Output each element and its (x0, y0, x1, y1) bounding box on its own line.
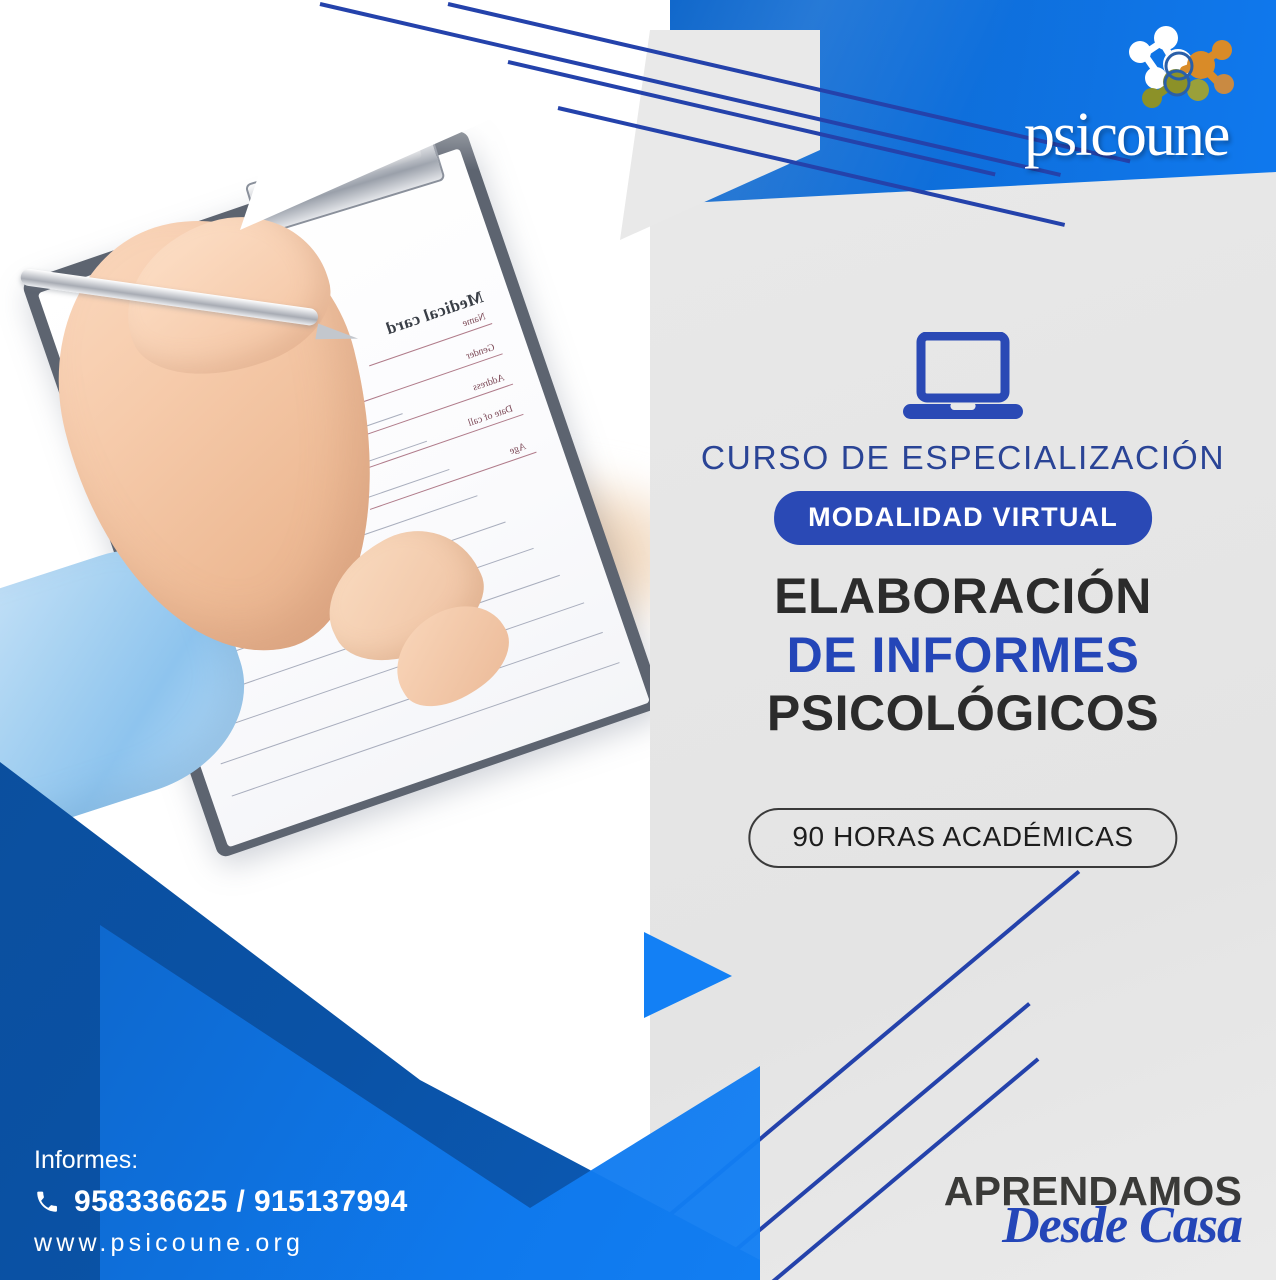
contact-phone-row[interactable]: 958336625 / 915137994 (34, 1185, 464, 1219)
title-line-2: DE INFORMES (650, 629, 1276, 682)
slogan: APRENDAMOS Desde Casa (912, 1171, 1242, 1250)
title-line-1: ELABORACIÓN (650, 570, 1276, 623)
brand-logo[interactable]: psicoune (1016, 18, 1248, 168)
course-title: ELABORACIÓN DE INFORMES PSICOLÓGICOS (650, 570, 1276, 746)
title-line-3: PSICOLÓGICOS (650, 687, 1276, 740)
course-kicker: CURSO DE ESPECIALIZACIÓN (650, 440, 1276, 478)
phone-icon (34, 1189, 60, 1215)
content-column: psicoune CURSO DE ESPECIALIZACIÓN MODALI… (650, 0, 1276, 1280)
clipboard-photo-scene: Medical card Name Gender Address Date of… (0, 127, 650, 933)
promotional-poster: Medical card Name Gender Address Date of… (0, 0, 1276, 1280)
field-label: Gender (464, 342, 495, 362)
field-line (370, 452, 537, 510)
academic-hours-badge: 90 HORAS ACADÉMICAS (748, 808, 1177, 868)
laptop-icon (899, 332, 1027, 426)
website-url[interactable]: www.psicoune.org (34, 1229, 464, 1258)
contact-label: Informes: (34, 1146, 464, 1175)
field-label: Address (472, 372, 507, 393)
brand-name: psicoune (1024, 104, 1228, 166)
modality-badge: MODALIDAD VIRTUAL (774, 491, 1152, 545)
contact-block: Informes: 958336625 / 915137994 www.psic… (34, 1146, 464, 1258)
phone-numbers: 958336625 / 915137994 (74, 1185, 408, 1219)
